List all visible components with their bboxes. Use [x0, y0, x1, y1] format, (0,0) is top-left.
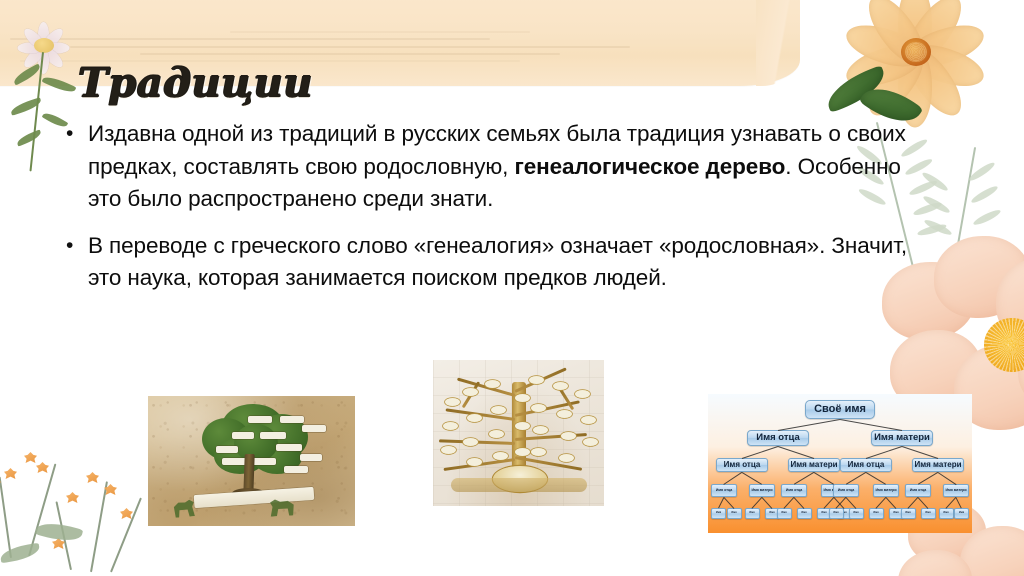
bullet-marker: •	[62, 230, 88, 262]
genealogy-edge	[866, 472, 886, 485]
genealogy-node-l2: Имя отца	[716, 458, 768, 472]
parchment-family-tree-image	[148, 396, 355, 526]
genealogy-edge	[876, 497, 887, 509]
genealogy-edge	[762, 497, 773, 509]
genealogy-node-l4: Имя	[797, 508, 812, 519]
genealogy-edge	[846, 497, 857, 509]
genealogy-edge	[956, 497, 962, 508]
genealogy-edge	[824, 497, 835, 509]
slide-canvas: Традиции • Издавна одной из традиций в р…	[0, 0, 1024, 576]
genealogy-edge	[718, 497, 724, 508]
genealogy-node-l3: Имя матери	[749, 484, 775, 497]
genealogy-node-l0: Своё имя	[805, 400, 875, 419]
antique-scroll	[451, 478, 587, 492]
genealogy-node-l4: Имя	[727, 508, 742, 519]
genealogy-node-l3: Имя отца	[781, 484, 807, 497]
genealogy-node-l2: Имя матери	[788, 458, 840, 472]
antique-genealogical-tree-image	[433, 360, 604, 506]
genealogy-edge	[794, 472, 814, 485]
bullet-marker: •	[62, 118, 88, 150]
genealogy-edge	[840, 419, 902, 431]
genealogy-node-l1: Имя матери	[871, 430, 933, 446]
genealogy-edge	[778, 419, 840, 431]
genealogy-edge	[846, 472, 866, 485]
genealogy-edge	[724, 497, 735, 509]
page-title: Традиции	[78, 60, 313, 107]
genealogy-edge	[938, 472, 956, 485]
bullet-item: • В переводе с греческого слово «генеало…	[62, 230, 922, 295]
genealogy-node-l1: Имя отца	[747, 430, 809, 446]
genealogy-tree-chart: Своё имяИмя отцаИмя материИмя отцаИмя ма…	[708, 394, 972, 533]
genealogy-edge	[724, 472, 742, 485]
genealogy-edge	[886, 497, 897, 509]
body-content: • Издавна одной из традиций в русских се…	[62, 118, 922, 309]
genealogy-node-l4: Имя	[711, 508, 726, 519]
orange-wildflowers-icon	[0, 450, 172, 576]
genealogy-node-l4: Имя	[921, 508, 936, 519]
genealogy-node-l4: Имя	[745, 508, 760, 519]
genealogy-node-l3: Имя отца	[833, 484, 859, 497]
genealogy-edge	[908, 497, 919, 509]
genealogy-edge	[794, 497, 805, 509]
genealogy-node-l3: Имя отца	[711, 484, 737, 497]
genealogy-node-l4: Имя	[869, 508, 884, 519]
genealogy-edge	[784, 497, 795, 509]
genealogy-node-l4: Имя	[901, 508, 916, 519]
genealogy-edge	[752, 497, 763, 509]
genealogy-node-l3: Имя матери	[873, 484, 899, 497]
genealogy-edge	[918, 472, 938, 485]
genealogy-edge	[814, 472, 834, 485]
genealogy-edge	[836, 497, 847, 509]
genealogy-edge	[918, 497, 929, 509]
genealogy-node-l2: Имя отца	[840, 458, 892, 472]
bullet-run-bold: генеалогическое дерево	[514, 154, 785, 179]
genealogy-node-l4: Имя	[849, 508, 864, 519]
genealogy-node-l4: Имя	[954, 508, 969, 519]
bullet-text-1: Издавна одной из традиций в русских семь…	[88, 118, 922, 216]
genealogy-node-l4: Имя	[777, 508, 792, 519]
genealogy-node-l4: Имя	[939, 508, 954, 519]
bullet-text-2: В переводе с греческого слово «генеалоги…	[88, 230, 922, 295]
genealogy-node-l2: Имя матери	[912, 458, 964, 472]
genealogy-edge	[742, 472, 762, 485]
bullet-item: • Издавна одной из традиций в русских се…	[62, 118, 922, 216]
genealogy-node-l4: Имя	[829, 508, 844, 519]
genealogy-edge	[946, 497, 957, 509]
genealogy-node-l3: Имя отца	[905, 484, 931, 497]
genealogy-node-l3: Имя матери	[943, 484, 969, 497]
